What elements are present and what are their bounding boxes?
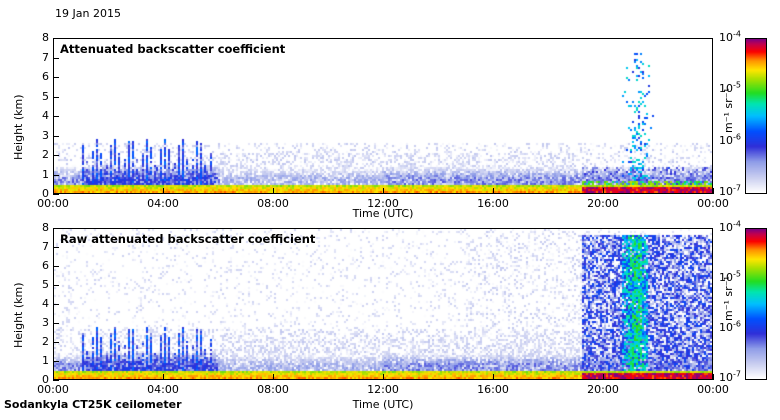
x-tick-1-3 xyxy=(383,374,384,380)
x-tick-label-1-1: 04:00 xyxy=(135,383,191,396)
y-tick-0-3 xyxy=(53,136,59,137)
x-tick-label-1-0: 00:00 xyxy=(25,383,81,396)
y-tick-label-0-1: 1 xyxy=(21,168,49,181)
y-tick-label-1-1: 1 xyxy=(21,354,49,367)
y-tick-label-0-3: 3 xyxy=(21,129,49,142)
x-tick-label-0-0: 00:00 xyxy=(25,197,81,210)
y-tick-0-5 xyxy=(53,97,59,98)
y-tick-label-0-6: 6 xyxy=(21,70,49,83)
x-tick-label-0-4: 16:00 xyxy=(465,197,521,210)
y-tick-label-1-8: 8 xyxy=(21,221,49,234)
x-tick-0-1 xyxy=(163,188,164,194)
x-tick-0-0 xyxy=(53,188,54,194)
colorbar-tick-label-1-2: 10-6 xyxy=(707,321,741,334)
x-tick-0-2 xyxy=(273,188,274,194)
y-tick-0-2 xyxy=(53,155,59,156)
x-tick-0-5 xyxy=(603,188,604,194)
x-tick-label-1-5: 20:00 xyxy=(575,383,631,396)
x-tick-label-1-2: 08:00 xyxy=(245,383,301,396)
y-tick-label-1-7: 7 xyxy=(21,240,49,253)
colorbar-tick-label-0-1: 10-5 xyxy=(707,82,741,95)
x-axis-label-bottom: Time (UTC) xyxy=(303,398,463,411)
y-tick-label-0-5: 5 xyxy=(21,90,49,103)
x-tick-0-4 xyxy=(493,188,494,194)
x-tick-1-2 xyxy=(273,374,274,380)
x-tick-label-0-2: 08:00 xyxy=(245,197,301,210)
x-tick-label-0-6: 00:00 xyxy=(685,197,741,210)
y-tick-0-1 xyxy=(53,175,59,176)
y-tick-1-6 xyxy=(53,266,59,267)
y-tick-1-4 xyxy=(53,304,59,305)
colorbar-tick-label-0-0: 10-4 xyxy=(707,31,741,44)
y-tick-label-1-2: 2 xyxy=(21,335,49,348)
x-tick-label-1-6: 00:00 xyxy=(685,383,741,396)
x-tick-label-0-1: 04:00 xyxy=(135,197,191,210)
date-label: 19 Jan 2015 xyxy=(55,7,121,20)
panel-title-attenuated: Attenuated backscatter coefficient xyxy=(60,42,285,56)
plot-area-attenuated-backscatter xyxy=(53,38,713,194)
x-tick-1-5 xyxy=(603,374,604,380)
y-tick-label-1-4: 4 xyxy=(21,297,49,310)
y-tick-label-0-2: 2 xyxy=(21,148,49,161)
y-tick-label-1-5: 5 xyxy=(21,278,49,291)
colorbar-tick-label-1-1: 10-5 xyxy=(707,271,741,284)
colorbar-tick-label-0-3: 10-7 xyxy=(707,185,741,198)
y-tick-label-1-6: 6 xyxy=(21,259,49,272)
y-tick-label-1-3: 3 xyxy=(21,316,49,329)
y-tick-0-6 xyxy=(53,77,59,78)
plot-area-raw-attenuated-backscatter xyxy=(53,228,713,380)
y-tick-0-8 xyxy=(53,38,59,39)
x-tick-label-0-5: 20:00 xyxy=(575,197,631,210)
y-tick-1-0 xyxy=(53,380,59,381)
y-tick-0-4 xyxy=(53,116,59,117)
x-tick-label-0-3: 12:00 xyxy=(355,197,411,210)
x-tick-label-1-3: 12:00 xyxy=(355,383,411,396)
y-tick-label-0-4: 4 xyxy=(21,109,49,122)
y-tick-1-5 xyxy=(53,285,59,286)
x-tick-1-4 xyxy=(493,374,494,380)
ceilometer-plot-page: 19 Jan 2015 Attenuated backscatter coeff… xyxy=(0,0,780,420)
y-tick-1-1 xyxy=(53,361,59,362)
colorbar-tick-label-1-0: 10-4 xyxy=(707,221,741,234)
colorbar-top xyxy=(745,38,767,194)
colorbar-bottom xyxy=(745,228,767,380)
colorbar-tick-label-0-2: 10-6 xyxy=(707,134,741,147)
x-tick-1-0 xyxy=(53,374,54,380)
y-tick-0-7 xyxy=(53,58,59,59)
x-tick-0-3 xyxy=(383,188,384,194)
y-tick-1-8 xyxy=(53,228,59,229)
y-tick-label-0-7: 7 xyxy=(21,51,49,64)
y-tick-0-0 xyxy=(53,194,59,195)
y-tick-label-0-8: 8 xyxy=(21,31,49,44)
colorbar-tick-label-1-3: 10-7 xyxy=(707,371,741,384)
y-tick-1-7 xyxy=(53,247,59,248)
x-tick-label-1-4: 16:00 xyxy=(465,383,521,396)
panel-title-raw: Raw attenuated backscatter coefficient xyxy=(60,232,315,246)
y-tick-1-2 xyxy=(53,342,59,343)
x-tick-1-1 xyxy=(163,374,164,380)
instrument-caption: Sodankyla CT25K ceilometer xyxy=(4,398,182,411)
y-tick-1-3 xyxy=(53,323,59,324)
